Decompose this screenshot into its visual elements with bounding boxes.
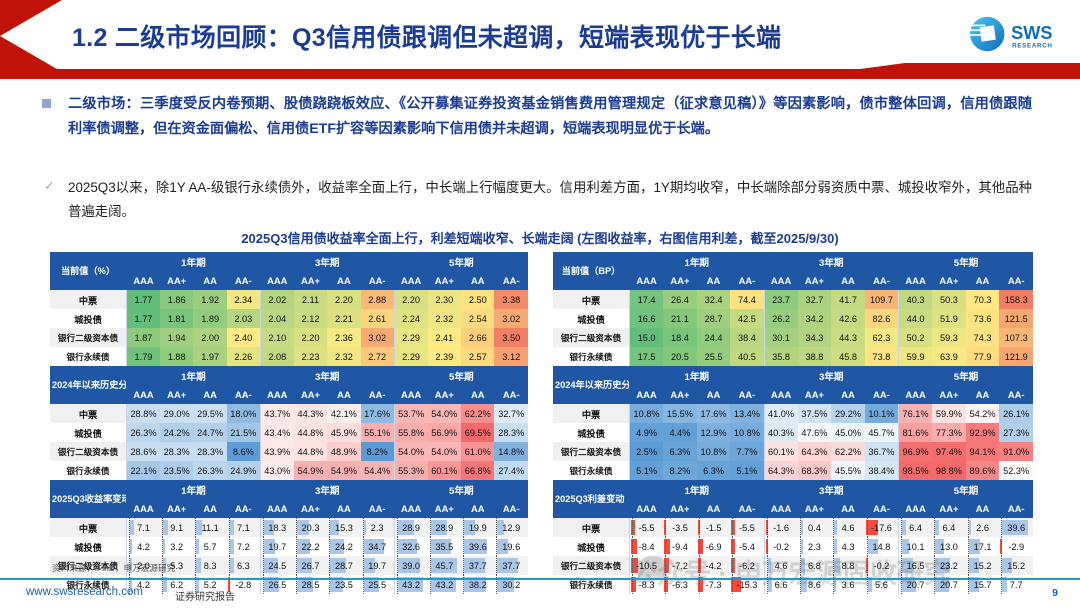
rating-column-header: AA- xyxy=(865,271,899,290)
table-row: 银行永续债1.791.881.972.262.082.232.322.722.2… xyxy=(50,347,528,366)
table-cell: 48.9% xyxy=(327,442,360,461)
table-cell: 24.2% xyxy=(160,423,193,442)
table-cell: 26.3% xyxy=(193,461,226,480)
source-note: 资料来源：iFinD，申万宏源研究 xyxy=(52,562,175,574)
rating-column-header: AA+ xyxy=(160,499,193,518)
table-cell: 54.0% xyxy=(428,442,461,461)
footer-url: www.swsresearch.com xyxy=(26,586,143,598)
table-cell: 1.81 xyxy=(160,309,193,328)
table-cell: 28.3% xyxy=(494,423,528,442)
rating-column-header: AA xyxy=(461,499,494,518)
table-cell: 66.8% xyxy=(461,461,494,480)
table-cell: 73.8 xyxy=(865,347,899,366)
table-cell: 32.4 xyxy=(697,290,731,309)
table-cell: 55.3% xyxy=(394,461,427,480)
table-cell: 3.12 xyxy=(494,347,528,366)
row-label: 银行二级资本债 xyxy=(50,328,127,347)
table-cell: 17.5 xyxy=(630,347,664,366)
spread-table-right: 当前值（BP）1年期3年期5年期AAAAA+AAAA-AAAAA+AAAA-AA… xyxy=(553,252,1033,594)
table-cell: 1.77 xyxy=(127,290,160,309)
rating-column-header: AA- xyxy=(730,385,764,404)
row-label: 中票 xyxy=(50,518,127,537)
table-cell: 62.2% xyxy=(461,404,494,423)
rating-column-header: AAA xyxy=(899,385,933,404)
table-row: 城投债16.621.128.742.526.234.242.682.644.05… xyxy=(553,309,1033,328)
table-cell: 3.38 xyxy=(494,290,528,309)
table-cell: 34.3 xyxy=(798,328,832,347)
table-cell: 17.4 xyxy=(630,290,664,309)
table-cell: 6.4 xyxy=(932,518,966,537)
table-cell: 25.5 xyxy=(697,347,731,366)
row-label: 银行二级资本债 xyxy=(553,442,630,461)
table-cell: 23.7 xyxy=(764,290,798,309)
table-cell: 42.1% xyxy=(327,404,360,423)
table-cell: 45.0% xyxy=(831,423,865,442)
table-cell: 21.1 xyxy=(663,309,697,328)
rating-column-header: AA+ xyxy=(932,499,966,518)
table-cell: 1.87 xyxy=(127,328,160,347)
rating-column-header: AA- xyxy=(865,385,899,404)
table-cell: 158.3 xyxy=(999,290,1033,309)
table-cell: 8.2% xyxy=(663,461,697,480)
rating-column-header: AA- xyxy=(361,271,394,290)
table-cell: 56.9% xyxy=(428,423,461,442)
table-cell: 2.5% xyxy=(630,442,664,461)
table-cell: 121.9 xyxy=(999,347,1033,366)
table-cell: 97.4% xyxy=(932,442,966,461)
table-cell: 32.7% xyxy=(494,404,528,423)
table-cell: 37.7 xyxy=(461,556,494,575)
table-cell: 77.9 xyxy=(966,347,1000,366)
table-row: 中票1.771.861.922.342.022.112.202.882.202.… xyxy=(50,290,528,309)
table-cell: 38.4 xyxy=(730,328,764,347)
table-cell: 60.1% xyxy=(764,442,798,461)
table-cell: 19.6 xyxy=(494,537,528,556)
table-cell: 5.1% xyxy=(730,461,764,480)
table-cell: 45.7 xyxy=(428,556,461,575)
table-cell: 26.7 xyxy=(294,556,327,575)
table-cell: 12.9 xyxy=(494,518,528,537)
table-cell: 7.1 xyxy=(127,518,160,537)
tenor-group-header: 3年期 xyxy=(764,366,899,385)
table-cell: 2.10 xyxy=(260,328,293,347)
rating-column-header: AA+ xyxy=(428,385,461,404)
tenor-group-header: 1年期 xyxy=(127,252,261,271)
rating-column-header: AAA xyxy=(394,385,427,404)
table-cell: 82.6 xyxy=(865,309,899,328)
rating-column-header: AA- xyxy=(494,499,528,518)
section-corner-label: 2024年以来历史分位数 xyxy=(50,366,127,404)
table-cell: 6.4 xyxy=(899,518,933,537)
table-cell: 39.6 xyxy=(461,537,494,556)
rating-column-header: AA xyxy=(327,385,360,404)
table-cell: 59.9% xyxy=(932,404,966,423)
table-cell: 26.2 xyxy=(764,309,798,328)
bullet-primary: 二级市场：三季度受反内卷预期、股债跷跷板效应、《公开募集证券投资基金销售费用管理… xyxy=(42,92,1032,142)
table-cell: 12.9% xyxy=(697,423,731,442)
table-cell: 64.3% xyxy=(764,461,798,480)
table-cell: 2.29 xyxy=(394,347,427,366)
table-cell: 2.50 xyxy=(461,290,494,309)
table-cell: 4.9% xyxy=(630,423,664,442)
table-cell: 17.6% xyxy=(361,404,394,423)
exhibit-title: 2025Q3信用债收益率全面上行，利差短端收窄、长端走阔 (左图收益率，右图信用… xyxy=(0,228,1080,247)
tenor-group-header: 5年期 xyxy=(394,366,528,385)
rating-column-header: AA+ xyxy=(428,271,461,290)
rating-column-header: AAA xyxy=(394,271,427,290)
table-cell: 2.66 xyxy=(461,328,494,347)
table-cell: 53.7% xyxy=(394,404,427,423)
table-cell: 44.0 xyxy=(899,309,933,328)
table-cell: 40.3% xyxy=(764,423,798,442)
table-cell: 28.3% xyxy=(193,442,226,461)
rating-column-header: AA+ xyxy=(160,271,193,290)
rating-column-header: AA+ xyxy=(663,271,697,290)
rating-column-header: AAA xyxy=(899,271,933,290)
table-cell: 1.92 xyxy=(193,290,226,309)
table-cell: 3.2 xyxy=(160,537,193,556)
table-cell: 74.4 xyxy=(730,290,764,309)
table-cell: 18.3 xyxy=(260,518,293,537)
table-cell: 1.86 xyxy=(160,290,193,309)
table-row: 银行永续债5.1%8.2%6.3%5.1%64.3%68.3%45.5%38.4… xyxy=(553,461,1033,480)
table-row: 城投债26.3%24.2%24.7%21.5%43.4%44.8%45.9%55… xyxy=(50,423,528,442)
table-cell: 54.9% xyxy=(294,461,327,480)
table-cell: 2.41 xyxy=(428,328,461,347)
footer-report-label: 证券研究报告 xyxy=(175,588,235,603)
table-cell: 24.5 xyxy=(260,556,293,575)
table-cell: 2.24 xyxy=(394,309,427,328)
table-cell: 62.2% xyxy=(831,442,865,461)
row-label: 城投债 xyxy=(50,537,127,556)
rating-column-header: AA- xyxy=(999,499,1033,518)
table-cell: 6.3 xyxy=(227,556,260,575)
row-label: 银行永续债 xyxy=(50,461,127,480)
table-cell: 50.2 xyxy=(899,328,933,347)
rating-column-header: AAA xyxy=(260,385,293,404)
tenor-group-header: 5年期 xyxy=(899,366,1034,385)
rating-column-header: AA- xyxy=(865,499,899,518)
table-cell: 121.5 xyxy=(999,309,1033,328)
row-label: 城投债 xyxy=(50,309,127,328)
table-cell: 4.2 xyxy=(127,537,160,556)
section-corner-label: 2024年以来历史分位数 xyxy=(553,366,630,404)
rating-column-header: AAA xyxy=(764,271,798,290)
table-row: 城投债4.23.25.77.219.722.224.234.732.635.53… xyxy=(50,537,528,556)
table-row: 中票7.19.111.17.118.320.315.32.328.928.919… xyxy=(50,518,528,537)
table-cell: 15.0 xyxy=(630,328,664,347)
table-cell: 5.7 xyxy=(193,537,226,556)
tenor-group-header: 5年期 xyxy=(394,252,528,271)
table-cell: 22.2 xyxy=(294,537,327,556)
table-cell: -5.5 xyxy=(730,518,764,537)
rating-column-header: AA+ xyxy=(663,385,697,404)
rating-column-header: AA xyxy=(461,271,494,290)
table-cell: 2.23 xyxy=(294,347,327,366)
table-cell: 94.1% xyxy=(966,442,1000,461)
rating-column-header: AA+ xyxy=(798,271,832,290)
table-cell: 26.3% xyxy=(127,423,160,442)
table-cell: 2.00 xyxy=(193,328,226,347)
row-label: 中票 xyxy=(50,404,127,423)
section-corner-label: 当前值（BP） xyxy=(553,252,630,290)
table-cell: 51.9 xyxy=(932,309,966,328)
sws-research-logo: SWS RESEARCH xyxy=(966,12,1062,56)
table-cell: 27.3% xyxy=(999,423,1033,442)
rating-column-header: AA+ xyxy=(294,385,327,404)
table-cell: 43.0% xyxy=(260,461,293,480)
table-cell: 2.32 xyxy=(327,347,360,366)
rating-column-header: AA xyxy=(966,499,1000,518)
table-cell: 2.21 xyxy=(327,309,360,328)
rating-column-header: AA+ xyxy=(294,271,327,290)
table-cell: 50.3 xyxy=(932,290,966,309)
table-cell: 77.3% xyxy=(932,423,966,442)
table-cell: 15.5% xyxy=(663,404,697,423)
table-cell: 37.5% xyxy=(798,404,832,423)
rating-column-header: AA- xyxy=(227,385,260,404)
rating-column-header: AA- xyxy=(361,499,394,518)
table-cell: 32.6 xyxy=(394,537,427,556)
rating-column-header: AA- xyxy=(494,385,528,404)
table-cell: 1.97 xyxy=(193,347,226,366)
row-label: 中票 xyxy=(553,518,630,537)
table-cell: 60.1% xyxy=(428,461,461,480)
svg-text:SWS: SWS xyxy=(1011,23,1052,43)
table-cell: 32.7 xyxy=(798,290,832,309)
table-cell: 41.0% xyxy=(764,404,798,423)
rating-column-header: AA xyxy=(697,499,731,518)
table-cell: 1.88 xyxy=(160,347,193,366)
table-cell: 36.7% xyxy=(865,442,899,461)
table-cell: 45.9% xyxy=(327,423,360,442)
table-cell: -2.9 xyxy=(999,537,1033,556)
rating-column-header: AA xyxy=(193,271,226,290)
tenor-group-header: 3年期 xyxy=(764,480,899,499)
table-cell: -5.5 xyxy=(630,518,664,537)
table-cell: 29.0% xyxy=(160,404,193,423)
rating-column-header: AA xyxy=(966,271,1000,290)
table-cell: 2.03 xyxy=(227,309,260,328)
row-label: 银行二级资本债 xyxy=(50,442,127,461)
table-cell: 17.6% xyxy=(697,404,731,423)
page-title: 1.2 二级市场回顾：Q3信用债跟调但未超调，短端表现优于长端 xyxy=(72,18,892,54)
table-cell: 109.7 xyxy=(865,290,899,309)
section-corner-label: 2025Q3利差变动（BP） xyxy=(553,480,630,518)
table-row: 城投债1.771.811.892.032.042.122.212.612.242… xyxy=(50,309,528,328)
table-cell: 20.3 xyxy=(294,518,327,537)
table-cell: 55.1% xyxy=(361,423,394,442)
table-row: 银行永续债17.520.525.540.535.838.845.873.859.… xyxy=(553,347,1033,366)
table-cell: 27.4% xyxy=(494,461,528,480)
rating-column-header: AA- xyxy=(227,499,260,518)
tenor-group-header: 3年期 xyxy=(260,252,394,271)
table-cell: 29.5% xyxy=(193,404,226,423)
table-cell: 54.0% xyxy=(428,404,461,423)
table-row: 中票17.426.432.474.423.732.741.7109.740.35… xyxy=(553,290,1033,309)
table-cell: 21.5% xyxy=(227,423,260,442)
row-label: 银行永续债 xyxy=(50,347,127,366)
table-cell: 24.2 xyxy=(327,537,360,556)
table-cell: 16.6 xyxy=(630,309,664,328)
table-cell: 2.34 xyxy=(227,290,260,309)
header-red-bar xyxy=(0,63,1080,79)
table-cell: 2.20 xyxy=(294,328,327,347)
rating-column-header: AA+ xyxy=(428,499,461,518)
table-cell: 43.7% xyxy=(260,404,293,423)
table-cell: 98.5% xyxy=(899,461,933,480)
table-cell: -1.6 xyxy=(764,518,798,537)
rating-column-header: AAA xyxy=(630,499,664,518)
rating-column-header: AA+ xyxy=(663,499,697,518)
table-row: 银行永续债22.1%23.5%26.3%24.9%43.0%54.9%54.9%… xyxy=(50,461,528,480)
table-cell: 81.6% xyxy=(899,423,933,442)
rating-column-header: AA+ xyxy=(160,385,193,404)
row-label: 银行二级资本债 xyxy=(553,328,630,347)
table-cell: 26.1% xyxy=(999,404,1033,423)
tenor-group-header: 5年期 xyxy=(899,252,1034,271)
check-bullet-icon: ✓ xyxy=(44,178,55,194)
table-cell: 42.5 xyxy=(730,309,764,328)
rating-column-header: AA- xyxy=(227,271,260,290)
table-cell: 2.6 xyxy=(966,518,1000,537)
table-cell: 45.5% xyxy=(831,461,865,480)
table-cell: 64.3% xyxy=(798,442,832,461)
table-cell: 91.0% xyxy=(999,442,1033,461)
table-cell: 45.7% xyxy=(865,423,899,442)
page-header: 1.2 二级市场回顾：Q3信用债跟调但未超调，短端表现优于长端 SWS RESE… xyxy=(0,0,1080,82)
rating-column-header: AA xyxy=(831,271,865,290)
tenor-group-header: 3年期 xyxy=(764,252,899,271)
tenor-group-header: 5年期 xyxy=(899,480,1034,499)
table-cell: 19.7 xyxy=(361,556,394,575)
table-cell: 26.4 xyxy=(663,290,697,309)
rating-column-header: AA xyxy=(327,271,360,290)
table-cell: 13.4% xyxy=(730,404,764,423)
rating-column-header: AA- xyxy=(999,385,1033,404)
rating-column-header: AA+ xyxy=(932,271,966,290)
table-cell: 7.1 xyxy=(227,518,260,537)
table-cell: 38.4% xyxy=(865,461,899,480)
table-cell: 59.3 xyxy=(932,328,966,347)
rating-column-header: AAA xyxy=(764,499,798,518)
table-cell: 10.8% xyxy=(730,423,764,442)
table-cell: 4.4% xyxy=(663,423,697,442)
table-cell: 74.3 xyxy=(966,328,1000,347)
table-cell: 30.1 xyxy=(764,328,798,347)
table-cell: -1.5 xyxy=(697,518,731,537)
table-cell: 2.02 xyxy=(260,290,293,309)
table-cell: 2.12 xyxy=(294,309,327,328)
rating-column-header: AAA xyxy=(899,499,933,518)
table-cell: 70.3 xyxy=(966,290,1000,309)
table-cell: 43.9% xyxy=(260,442,293,461)
section-corner-label: 2025Q3收益率变动（BP） xyxy=(50,480,127,518)
table-cell: 54.4% xyxy=(361,461,394,480)
table-cell: 68.3% xyxy=(798,461,832,480)
table-cell: 2.88 xyxy=(361,290,394,309)
table-cell: 9.1 xyxy=(160,518,193,537)
rating-column-header: AA xyxy=(461,385,494,404)
table-cell: 62.3 xyxy=(865,328,899,347)
table-cell: 45.8 xyxy=(831,347,865,366)
table-cell: 7.2 xyxy=(227,537,260,556)
table-cell: 28.6% xyxy=(127,442,160,461)
table-cell: 55.8% xyxy=(394,423,427,442)
rating-column-header: AA xyxy=(327,499,360,518)
table-cell: 10.8% xyxy=(697,442,731,461)
table-cell: 1.79 xyxy=(127,347,160,366)
table-cell: 15.2 xyxy=(999,556,1033,575)
table-cell: 19.7 xyxy=(260,537,293,556)
table-cell: 23.5% xyxy=(160,461,193,480)
table-cell: 14.8% xyxy=(494,442,528,461)
table-row: 银行二级资本债1.871.942.002.402.102.202.363.022… xyxy=(50,328,528,347)
rating-column-header: AAA xyxy=(764,385,798,404)
table-cell: 34.7 xyxy=(361,537,394,556)
tenor-group-header: 5年期 xyxy=(394,480,528,499)
rating-column-header: AA+ xyxy=(294,499,327,518)
bullet-secondary-text: 2025Q3以来，除1Y AA-级银行永续债外，收益率全面上行，中长端上行幅度更… xyxy=(68,176,1032,224)
table-row: 中票28.8%29.0%29.5%18.0%43.7%44.3%42.1%17.… xyxy=(50,404,528,423)
table-cell: 40.3 xyxy=(899,290,933,309)
table-cell: 54.0% xyxy=(394,442,427,461)
tenor-group-header: 1年期 xyxy=(630,480,765,499)
table-cell: 24.4 xyxy=(697,328,731,347)
bullet-primary-text: 二级市场：三季度受反内卷预期、股债跷跷板效应、《公开募集证券投资基金销售费用管理… xyxy=(68,92,1032,142)
table-cell: 15.3 xyxy=(327,518,360,537)
rating-column-header: AA xyxy=(193,385,226,404)
table-row: 中票10.8%15.5%17.6%13.4%41.0%37.5%29.2%10.… xyxy=(553,404,1033,423)
table-cell: 41.7 xyxy=(831,290,865,309)
table-cell: 1.77 xyxy=(127,309,160,328)
table-row: 城投债4.9%4.4%12.9%10.8%40.3%47.6%45.0%45.7… xyxy=(553,423,1033,442)
rating-column-header: AA- xyxy=(730,271,764,290)
table-cell: 28.3% xyxy=(160,442,193,461)
table-row: 中票-5.5-3.5-1.5-5.5-1.60.44.6-17.66.46.42… xyxy=(553,518,1033,537)
table-cell: 8.6% xyxy=(227,442,260,461)
table-cell: 1.89 xyxy=(193,309,226,328)
table-cell: 2.54 xyxy=(461,309,494,328)
table-cell: 54.2% xyxy=(966,404,1000,423)
rating-column-header: AA- xyxy=(730,499,764,518)
table-cell: 29.2% xyxy=(831,404,865,423)
table-cell: 2.20 xyxy=(394,290,427,309)
table-cell: 40.5 xyxy=(730,347,764,366)
tenor-group-header: 1年期 xyxy=(630,366,765,385)
tenor-group-header: 1年期 xyxy=(630,252,765,271)
table-cell: 5.1% xyxy=(630,461,664,480)
table-cell: 96.9% xyxy=(899,442,933,461)
row-label: 银行永续债 xyxy=(553,461,630,480)
table-cell: 2.29 xyxy=(394,328,427,347)
rating-column-header: AA xyxy=(831,385,865,404)
table-cell: 44.3 xyxy=(831,328,865,347)
table-cell: 10.1% xyxy=(865,404,899,423)
table-cell: 73.6 xyxy=(966,309,1000,328)
table-cell: 7.7% xyxy=(730,442,764,461)
table-cell: 15.2 xyxy=(966,556,1000,575)
rating-column-header: AAA xyxy=(630,385,664,404)
table-cell: 61.0% xyxy=(461,442,494,461)
table-cell: 19.9 xyxy=(461,518,494,537)
rating-column-header: AAA xyxy=(127,499,160,518)
table-cell: 18.4 xyxy=(663,328,697,347)
table-cell: 69.5% xyxy=(461,423,494,442)
table-cell: 54.9% xyxy=(327,461,360,480)
table-cell: 2.26 xyxy=(227,347,260,366)
yield-table-left: 当前值（%）1年期3年期5年期AAAAA+AAAA-AAAAA+AAAA-AAA… xyxy=(50,252,528,594)
